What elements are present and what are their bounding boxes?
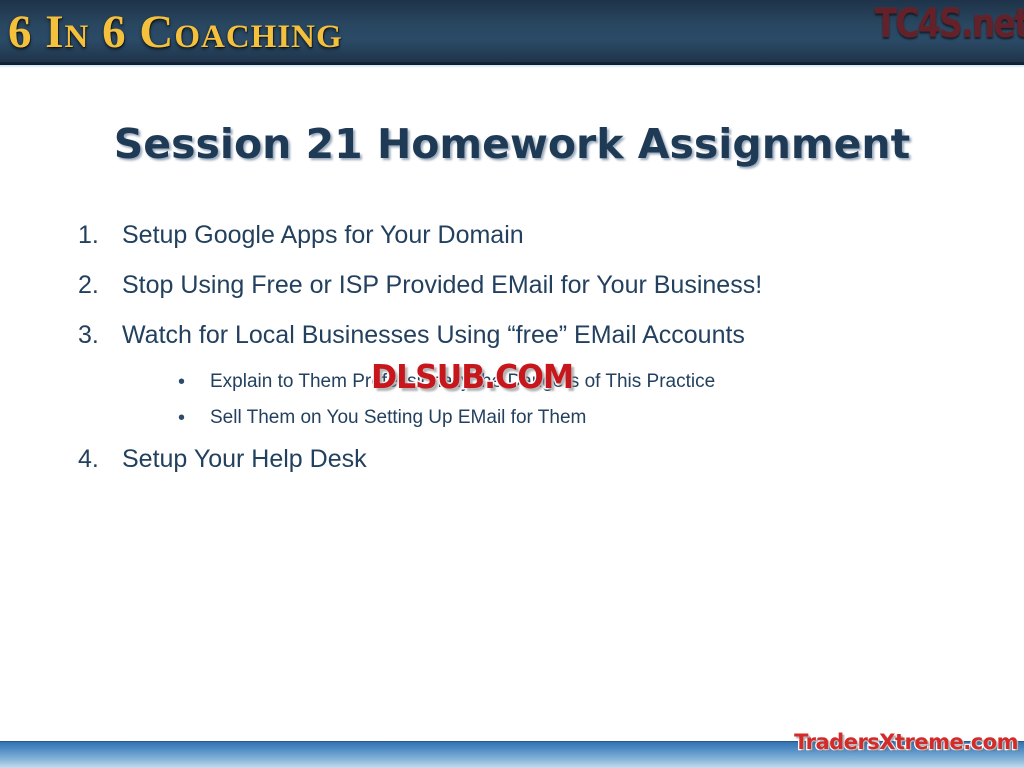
bullet-icon: • (178, 368, 210, 396)
tradersxtreme-logo: TradersXtreme.com (794, 729, 1018, 755)
page-title: Session 21 Homework Assignment (0, 118, 1024, 170)
header-banner: 6 In 6 Coaching TC4S.net (0, 0, 1024, 65)
list-item-label: Stop Using Free or ISP Provided EMail fo… (122, 268, 762, 302)
brand-title: 6 In 6 Coaching (8, 6, 343, 58)
header-underline-divider (0, 65, 1024, 68)
list-item-number: 1. (78, 218, 122, 252)
homework-list: 1. Setup Google Apps for Your Domain 2. … (78, 218, 968, 492)
list-item: 4. Setup Your Help Desk (78, 442, 968, 476)
list-item-number: 4. (78, 442, 122, 476)
list-item: 1. Setup Google Apps for Your Domain (78, 218, 968, 252)
sub-list: • Explain to Them Professionally the Dan… (78, 368, 968, 432)
sub-list-item: • Explain to Them Professionally the Dan… (78, 368, 968, 396)
list-item-number: 3. (78, 318, 122, 352)
list-item-number: 2. (78, 268, 122, 302)
sub-list-item-label: Explain to Them Professionally the Dange… (210, 368, 715, 396)
list-item-label: Setup Your Help Desk (122, 442, 367, 476)
list-item: 2. Stop Using Free or ISP Provided EMail… (78, 268, 968, 302)
tc4s-logo: TC4S.net (874, 2, 1024, 46)
sub-list-item-label: Sell Them on You Setting Up EMail for Th… (210, 404, 586, 432)
bullet-icon: • (178, 404, 210, 432)
list-item-label: Setup Google Apps for Your Domain (122, 218, 524, 252)
list-item: 3. Watch for Local Businesses Using “fre… (78, 318, 968, 352)
sub-list-item: • Sell Them on You Setting Up EMail for … (78, 404, 968, 432)
list-item-label: Watch for Local Businesses Using “free” … (122, 318, 745, 352)
